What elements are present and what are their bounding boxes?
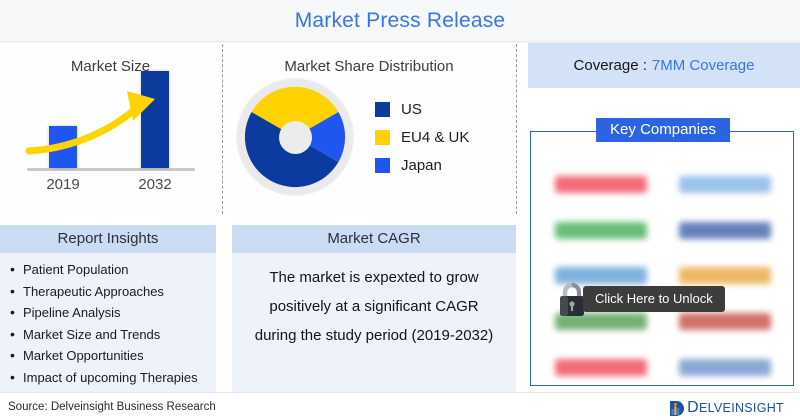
donut-center-hole (279, 121, 312, 154)
company-logo-grid (539, 162, 787, 390)
report-insights-list: Patient Population Therapeutic Approache… (10, 259, 216, 388)
page-title-bar: Market Press Release (0, 0, 800, 42)
key-companies-box: Click Here to Unlock (530, 131, 794, 386)
market-share-panel: Market Share Distribution (223, 44, 515, 215)
list-item: Market Opportunities (10, 345, 216, 367)
key-companies-badge: Key Companies (596, 118, 730, 142)
legend-label-japan: Japan (401, 157, 442, 174)
list-item: Impact of upcoming Therapies (10, 367, 216, 389)
legend-swatch-eu4-uk (375, 130, 390, 145)
coverage-band: Coverage : 7MM Coverage (528, 43, 800, 88)
legend-swatch-us (375, 102, 390, 117)
report-insights-body: Patient Population Therapeutic Approache… (0, 253, 216, 392)
company-logo-10 (679, 359, 771, 376)
market-share-donut-chart (237, 79, 353, 195)
company-logo-2 (679, 176, 771, 193)
legend-item-japan: Japan (375, 157, 469, 174)
press-release-infographic: Market Press Release Market Size 2019 20… (0, 0, 800, 420)
brand-name: ELVEINSIGHT (699, 401, 784, 415)
market-cagr-heading: Market CAGR (232, 225, 516, 253)
list-item: Market Size and Trends (10, 324, 216, 346)
company-logo-3 (555, 222, 647, 239)
legend-label-eu4-uk: EU4 & UK (401, 129, 469, 146)
market-share-heading: Market Share Distribution (223, 44, 515, 75)
legend-swatch-japan (375, 158, 390, 173)
unlock-button[interactable]: Click Here to Unlock (555, 280, 725, 318)
list-item: Patient Population (10, 259, 216, 281)
list-item: Pipeline Analysis (10, 302, 216, 324)
market-size-panel: Market Size 2019 2032 (0, 44, 221, 215)
bar-label-2032: 2032 (125, 176, 185, 193)
source-text: Source: Delveinsight Business Research (8, 401, 216, 413)
company-logo-1 (555, 176, 647, 193)
list-item: Therapeutic Approaches (10, 281, 216, 303)
market-cagr-text: The market is expexted to grow positivel… (248, 263, 500, 350)
unlock-label: Click Here to Unlock (583, 286, 725, 312)
market-size-heading: Market Size (0, 44, 221, 75)
company-logo-9 (555, 359, 647, 376)
market-share-legend: US EU4 & UK Japan (375, 101, 469, 174)
delveinsight-brand: DELVEINSIGHT (669, 399, 784, 417)
bar-2019 (49, 126, 77, 168)
coverage-value: 7MM Coverage (652, 57, 755, 74)
legend-item-us: US (375, 101, 469, 118)
bar-2032 (141, 71, 169, 168)
market-cagr-body: The market is expexted to grow positivel… (232, 253, 516, 392)
donut-segments (242, 84, 348, 190)
brand-initial: D (687, 399, 699, 416)
brand-text: DELVEINSIGHT (687, 399, 784, 417)
report-insights-heading: Report Insights (0, 225, 216, 253)
report-insights-panel: Report Insights Patient Population Thera… (0, 225, 216, 392)
market-size-bar-chart: 2019 2032 (23, 85, 198, 193)
company-logo-4 (679, 222, 771, 239)
page-title: Market Press Release (295, 9, 506, 33)
chart-baseline (27, 168, 195, 171)
delveinsight-logo-icon (669, 400, 686, 417)
key-companies-section: Click Here to Unlock Key Companies (530, 118, 796, 390)
vertical-dashed-divider-right (516, 44, 517, 214)
coverage-label: Coverage : (574, 57, 647, 74)
bar-label-2019: 2019 (33, 176, 93, 193)
market-share-body: US EU4 & UK Japan (223, 79, 515, 195)
legend-item-eu4-uk: EU4 & UK (375, 129, 469, 146)
market-cagr-panel: Market CAGR The market is expexted to gr… (232, 225, 516, 392)
legend-label-us: US (401, 101, 422, 118)
